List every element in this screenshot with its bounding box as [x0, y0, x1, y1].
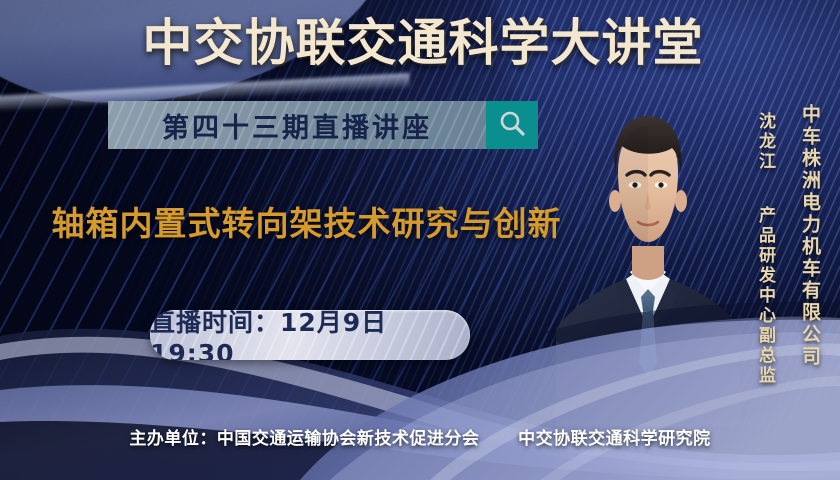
footer-organizer-label: 主办单位：中国交通运输协会新技术促进分会 — [129, 429, 479, 449]
subtitle-label-box: 第四十三期直播讲座 — [108, 101, 486, 149]
lecture-topic: 轴箱内置式转向架技术研究与创新 — [34, 197, 579, 245]
live-time-text: 直播时间：12月9日19:30 — [150, 310, 470, 360]
live-stream-poster: 中交协联交通科学大讲堂 第四十三期直播讲座 轴箱内置式转向架技术研究与创新 直播… — [0, 0, 840, 480]
speaker-name: 沈龙江 — [753, 112, 778, 172]
speaker-role: 产品研发中心副总监 — [753, 206, 778, 386]
speaker-company: 中车株洲电力机车有限公司 — [797, 104, 824, 368]
search-button[interactable] — [486, 101, 538, 149]
subtitle-text: 第四十三期直播讲座 — [162, 106, 432, 145]
footer-organizers: 主办单位：中国交通运输协会新技术促进分会 中交协联交通科学研究院 — [0, 424, 840, 449]
footer-institute: 中交协联交通科学研究院 — [518, 429, 711, 449]
live-time-badge: 直播时间：12月9日19:30 — [150, 310, 470, 360]
search-icon — [497, 108, 527, 143]
page-title: 中交协联交通科学大讲堂 — [0, 18, 840, 68]
session-subtitle-bar: 第四十三期直播讲座 — [108, 101, 538, 149]
